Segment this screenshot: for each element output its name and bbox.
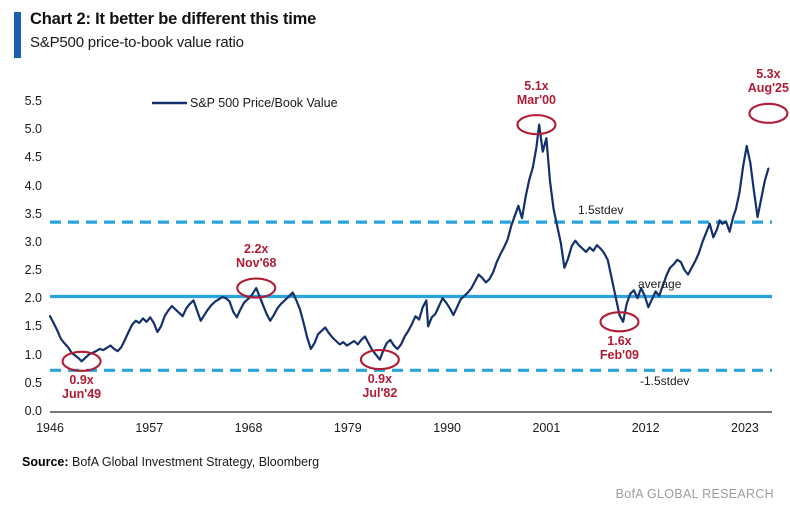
source-label: Source:	[22, 455, 69, 469]
y-tick-label-5: 2.5	[8, 263, 42, 277]
annotation-ellipse-mar-00-high	[517, 115, 555, 134]
annotation-label-nov-68-high: 2.2xNov'68	[211, 242, 301, 270]
y-tick-label-9: 4.5	[8, 150, 42, 164]
y-tick-label-2: 1.0	[8, 348, 42, 362]
x-tick-label-0: 1946	[20, 421, 80, 435]
chart-canvas	[0, 0, 790, 513]
reference-line-label--1.5stdev: -1.5stdev	[640, 374, 689, 388]
y-tick-label-11: 5.5	[8, 94, 42, 108]
source-note: Source: BofA Global Investment Strategy,…	[22, 455, 319, 469]
brand-mark: BofA GLOBAL RESEARCH	[616, 487, 774, 501]
annotation-label-jun-49-low: 0.9xJun'49	[37, 373, 127, 401]
x-tick-label-3: 1979	[318, 421, 378, 435]
reference-line-label-1.5stdev: 1.5stdev	[578, 203, 623, 217]
x-tick-label-2: 1968	[219, 421, 279, 435]
y-tick-label-7: 3.5	[8, 207, 42, 221]
x-tick-label-4: 1990	[417, 421, 477, 435]
x-tick-label-7: 2023	[715, 421, 775, 435]
reference-line-label-average: average	[638, 277, 681, 291]
y-tick-label-6: 3.0	[8, 235, 42, 249]
annotation-ellipses-group	[63, 104, 788, 371]
annotation-label-feb-09-low: 1.6xFeb'09	[574, 334, 664, 362]
series-line-0	[50, 125, 768, 362]
y-tick-label-4: 2.0	[8, 291, 42, 305]
annotation-ellipse-aug-25-high	[749, 104, 787, 123]
x-tick-label-1: 1957	[119, 421, 179, 435]
y-tick-label-0: 0.0	[8, 404, 42, 418]
annotation-label-aug-25-high: 5.3xAug'25	[723, 67, 790, 95]
y-tick-label-10: 5.0	[8, 122, 42, 136]
y-tick-label-8: 4.0	[8, 179, 42, 193]
source-text: BofA Global Investment Strategy, Bloombe…	[69, 455, 320, 469]
x-tick-label-6: 2012	[616, 421, 676, 435]
x-tick-label-5: 2001	[516, 421, 576, 435]
y-tick-label-3: 1.5	[8, 319, 42, 333]
series-group	[50, 125, 768, 362]
legend-label: S&P 500 Price/Book Value	[190, 96, 338, 110]
annotation-label-mar-00-high: 5.1xMar'00	[491, 79, 581, 107]
annotation-label-jul-82-low: 0.9xJul'82	[335, 372, 425, 400]
